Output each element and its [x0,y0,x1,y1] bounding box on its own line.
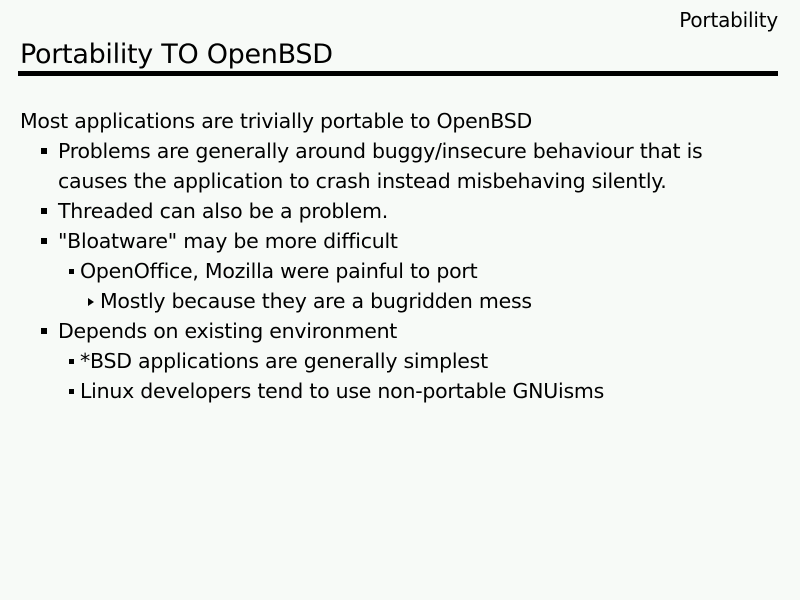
bullet-text: "Bloatware" may be more difficult [58,226,720,256]
bullet-item: Most applications are trivially portable… [20,106,720,136]
bullet-text: OpenOffice, Mozilla were painful to port [80,256,720,286]
bullet-text: Depends on existing environment [58,316,720,346]
square-bullet-icon [41,208,47,214]
bullet-item: Depends on existing environment [20,316,720,346]
bullet-item: OpenOffice, Mozilla were painful to port [20,256,720,286]
bullet-item: *BSD applications are generally simplest [20,346,720,376]
small-square-bullet-icon [69,389,74,394]
square-bullet-icon [41,238,47,244]
bullet-item: Linux developers tend to use non-portabl… [20,376,720,406]
page-title: Portability TO OpenBSD [20,38,778,71]
bullet-text: Mostly because they are a bugridden mess [100,286,720,316]
square-bullet-icon [41,148,47,154]
bullet-text: Linux developers tend to use non-portabl… [80,376,720,406]
slide-header-label: Portability [18,8,778,32]
slide: Portability Portability TO OpenBSD Most … [0,0,800,600]
small-square-bullet-icon [69,269,74,274]
small-square-bullet-icon [69,359,74,364]
bullet-text: Most applications are trivially portable… [20,106,720,136]
bullet-item: Mostly because they are a bugridden mess [20,286,720,316]
triangle-bullet-icon [88,298,94,306]
slide-body: Most applications are trivially portable… [20,106,720,406]
title-divider [18,71,778,76]
bullet-text: *BSD applications are generally simplest [80,346,720,376]
bullet-item: Problems are generally around buggy/inse… [20,136,720,196]
bullet-item: "Bloatware" may be more difficult [20,226,720,256]
bullet-text: Threaded can also be a problem. [58,196,720,226]
square-bullet-icon [41,328,47,334]
bullet-text: Problems are generally around buggy/inse… [58,136,720,196]
bullet-item: Threaded can also be a problem. [20,196,720,226]
